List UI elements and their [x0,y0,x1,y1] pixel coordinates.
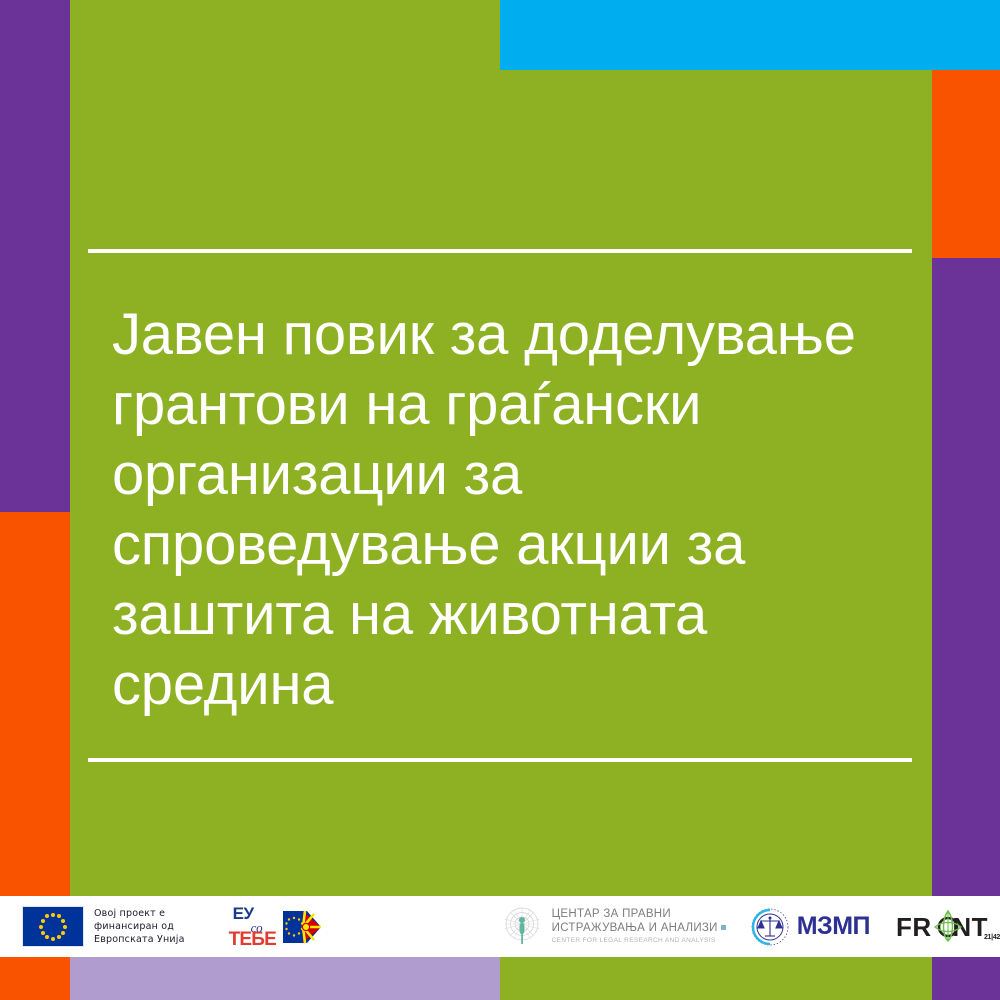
front-part1: FR [896,912,932,942]
front-subscript: 21|42 [984,934,1000,941]
mzmp-label: МЗМП [797,912,870,941]
eu-star-icon [61,919,65,923]
right-strip-orange [932,70,1000,258]
eu-star-icon [61,931,65,935]
eu-star-icon [45,935,49,939]
clra-line3: CENTER FOR LEGAL RESEARCH AND ANALYSIS [552,935,726,946]
mzmp-logo: МЗМП [750,907,870,947]
clra-line1: ЦЕНТАР ЗА ПРАВНИ [552,907,726,921]
left-strip-purple [0,0,70,512]
eu-star-icon [41,931,45,935]
eu-star-icon [57,935,61,939]
bottom-strip-orange [0,957,70,1000]
eu-star-icon [57,914,61,918]
bottom-strip-purple [932,957,1000,1000]
clra-text-block: ЦЕНТАР ЗА ПРАВНИ ИСТРАЖУВАЊА И АНАЛИЗИ C… [552,907,726,946]
clra-square-icon [721,925,726,930]
clra-line2-text: ИСТРАЖУВАЊА И АНАЛИЗИ [552,922,718,934]
eu-with-you-logo: ЕУ со ТЕБЕ [229,903,325,951]
eu-star-icon [51,937,55,941]
divider-bottom [88,758,912,762]
flag-arrow-icon [281,906,323,948]
front-logo: FRONT 21|42 [896,910,1000,944]
dandelion-person-icon [501,906,543,948]
bottom-strip-green [500,957,932,1000]
top-band-cyan [500,0,932,70]
eu-star-icon [39,925,43,929]
bottom-strip-lavender [70,957,500,1000]
eu-funding-text: Овој проект е финансиран од Европската У… [94,907,201,946]
poster-canvas: Јавен повик за доделување грантови на гр… [0,0,1000,1000]
leaf-circle-icon [933,910,963,942]
right-strip-purple [932,258,1000,896]
eu-star-icon [51,913,55,917]
clra-line2: ИСТРАЖУВАЊА И АНАЛИЗИ [552,921,726,935]
page-title: Јавен повик за доделување грантови на гр… [112,300,902,720]
eu-star-icon [63,925,67,929]
left-strip-orange [0,512,70,896]
european-union-flag-icon [22,906,84,947]
clra-logo: ЦЕНТАР ЗА ПРАВНИ ИСТРАЖУВАЊА И АНАЛИЗИ C… [501,906,726,948]
eu-star-icon [41,919,45,923]
right-strip-cyan [932,0,1000,70]
divider-top [88,249,912,253]
eu-with-you-line3: ТЕБЕ [229,929,276,951]
scales-of-justice-icon [750,907,790,947]
eu-star-icon [45,914,49,918]
eu-funding-logo: Овој проект е финансиран од Европската У… [0,896,201,957]
footer-logo-bar: Овој проект е финансиран од Европската У… [0,896,1000,957]
